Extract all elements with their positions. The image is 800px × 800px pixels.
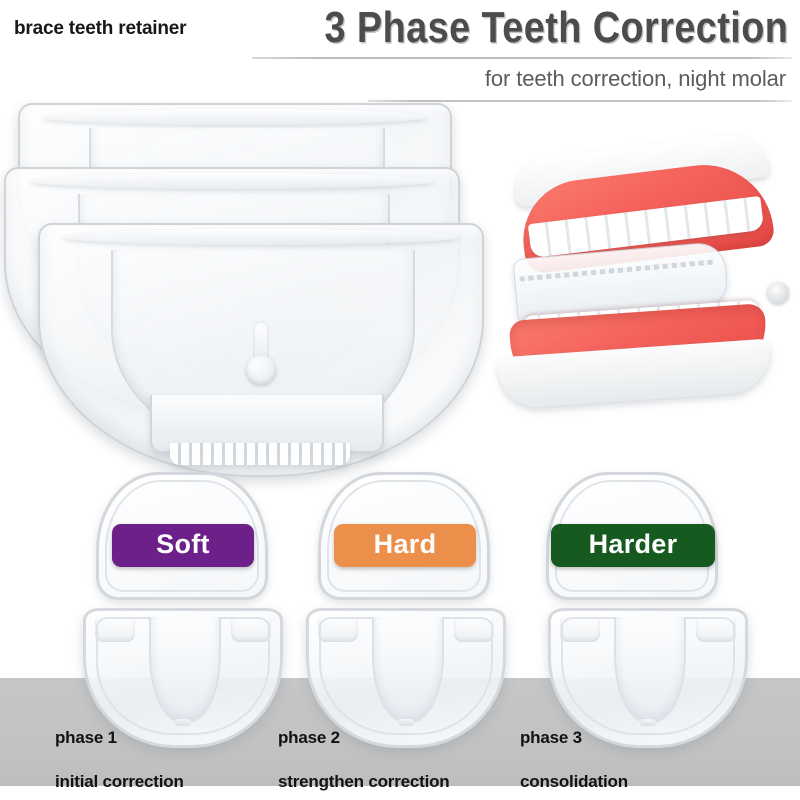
phase-description: strengthen correction [278,772,528,792]
stacked-retainers-photo [0,95,500,465]
hardness-badge-soft: Soft [112,524,254,567]
brand-label: brace teeth retainer [14,18,186,40]
product-infographic: brace teeth retainer 3 Phase Teeth Corre… [0,0,800,800]
phase-caption: phase 2 strengthen correction [278,728,528,792]
hardness-item-harder: Harder [538,466,728,606]
hardness-item-soft: Soft [88,466,278,606]
phase-item-1: phase 1 initial correction [55,608,305,800]
phase-item-3: phase 3 consolidation [520,608,770,800]
hardness-badge-harder: Harder [551,524,715,567]
tray-bump-icon [246,355,276,385]
u-mouthguard-icon [83,608,283,748]
u-mouthguard-icon [306,608,506,748]
uguard-bump [398,719,414,726]
phase-number: phase 3 [520,728,770,748]
tray-lip [42,109,429,125]
phase-number: phase 2 [278,728,528,748]
uguard-bump [175,719,191,726]
tray-teeth-ridge [170,443,350,465]
uguard-bump [640,719,656,726]
page-title: 3 Phase Teeth Correction [324,4,788,52]
phase-number: phase 1 [55,728,305,748]
u-mouthguard-icon [548,608,748,748]
model-hinge-icon [767,282,789,304]
title-divider-rule [252,57,792,59]
tray-lip [29,173,436,189]
phase-description: consolidation [520,772,770,792]
hardness-levels-row: Soft Hard Harder [0,466,800,611]
phases-row: phase 1 initial correction phase 2 stren… [0,608,800,800]
hardness-item-hard: Hard [310,466,500,606]
phase-description: initial correction [55,772,305,792]
hardness-badge-hard: Hard [334,524,476,567]
dental-jaw-model-photo [495,140,795,410]
phase-caption: phase 3 consolidation [520,728,770,792]
phase-item-2: phase 2 strengthen correction [278,608,528,800]
phase-caption: phase 1 initial correction [55,728,305,792]
page-subtitle: for teeth correction, night molar [485,66,786,92]
tray-lip [62,229,460,245]
